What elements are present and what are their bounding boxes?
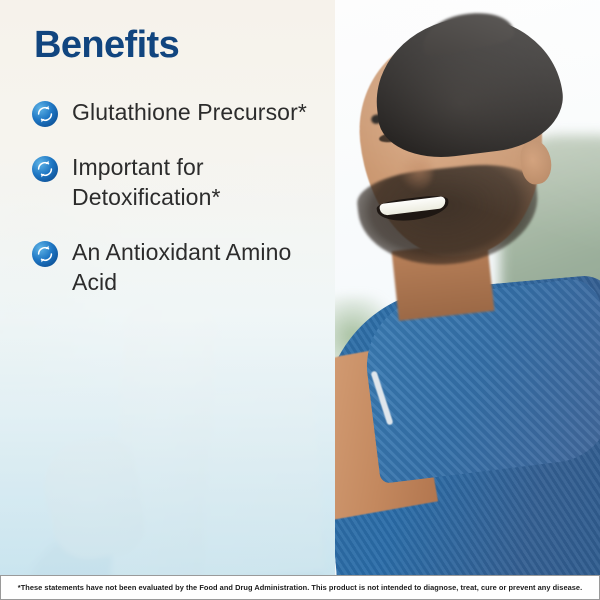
refresh-cycle-icon: [32, 241, 58, 267]
page-title: Benefits: [34, 26, 179, 64]
benefits-marketing-image: Benefits: [0, 0, 600, 600]
list-item: Important for Detoxification*: [32, 153, 322, 212]
benefits-list: Glutathione Precursor*: [32, 98, 322, 297]
benefits-content: Benefits: [0, 0, 335, 575]
list-item-label: Important for Detoxification*: [72, 153, 322, 212]
refresh-cycle-icon: [32, 101, 58, 127]
list-item-label: Glutathione Precursor*: [72, 98, 307, 127]
fda-disclaimer-band: *These statements have not been evaluate…: [0, 575, 600, 600]
benefits-panel: Benefits: [0, 0, 335, 575]
hero-photo: [335, 0, 600, 575]
refresh-cycle-icon: [32, 156, 58, 182]
list-item: Glutathione Precursor*: [32, 98, 322, 127]
fda-disclaimer-text: *These statements have not been evaluate…: [18, 583, 582, 592]
list-item: An Antioxidant Amino Acid: [32, 238, 322, 297]
list-item-label: An Antioxidant Amino Acid: [72, 238, 322, 297]
